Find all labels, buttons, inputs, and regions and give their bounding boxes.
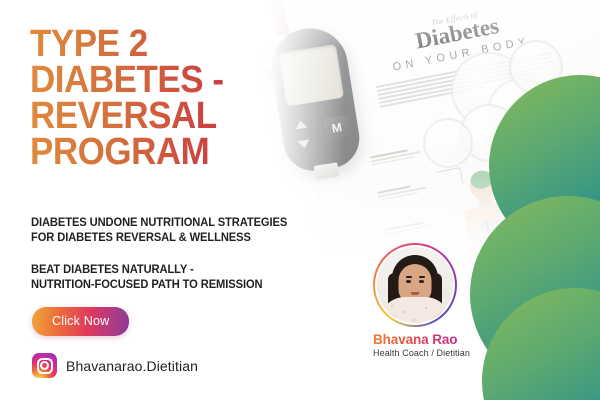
instagram-icon-dot: [49, 359, 51, 361]
presenter-card: Bhavana Rao Health Coach / Dietitian: [373, 243, 457, 358]
glass-object: [423, 118, 473, 168]
click-now-button[interactable]: Click Now: [32, 307, 129, 336]
portrait-clothing: [379, 297, 451, 325]
portrait-brow-right: [419, 276, 425, 278]
avatar: [375, 245, 455, 325]
instagram-icon-lens: [40, 361, 49, 370]
headline-line-3: REVERSAL: [30, 98, 306, 134]
instagram-handle-text[interactable]: Bhavanarao.Dietitian: [66, 358, 198, 374]
subheadline-primary-line-1: DIABETES UNDONE NUTRITIONAL STRATEGIES: [31, 216, 287, 231]
promo-banner: ARA PREVENIR BET The Effects of: [0, 0, 600, 400]
headline-line-4: PROGRAM: [30, 134, 306, 170]
instagram-icon[interactable]: [32, 353, 57, 378]
headline-line-2: DIABETES -: [30, 62, 306, 98]
subheadline-primary: DIABETES UNDONE NUTRITIONAL STRATEGIES F…: [31, 216, 287, 245]
subheadline-secondary-line-1: BEAT DIABETES NATURALLY -: [31, 263, 262, 278]
headline-line-1: TYPE 2: [30, 26, 306, 62]
presenter-name: Bhavana Rao: [373, 332, 457, 347]
portrait-brow-left: [406, 276, 412, 278]
subheadline-primary-line-2: FOR DIABETES REVERSAL & WELLNESS: [31, 231, 287, 246]
portrait-eye-left: [406, 280, 411, 283]
avatar-ring: [373, 243, 457, 327]
presenter-role: Health Coach / Dietitian: [373, 348, 457, 358]
portrait-eye-right: [419, 280, 424, 283]
page-title: TYPE 2 DIABETES - REVERSAL PROGRAM: [30, 26, 330, 170]
instagram-handle-row[interactable]: Bhavanarao.Dietitian: [32, 353, 198, 378]
subheadline-secondary-line-2: NUTRITION-FOCUSED PATH TO REMISSION: [31, 278, 262, 293]
subheadline-secondary: BEAT DIABETES NATURALLY - NUTRITION-FOCU…: [31, 263, 262, 292]
